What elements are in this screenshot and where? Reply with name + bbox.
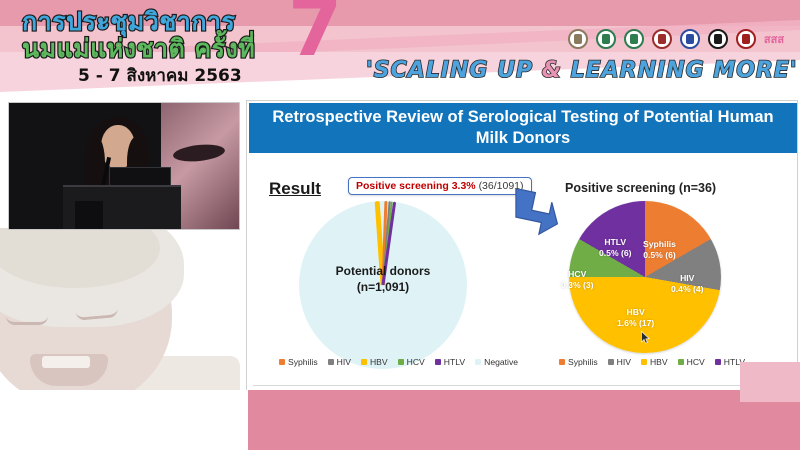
result-heading: Result: [269, 179, 321, 199]
logo-sss-thaihealth-icon: สสส: [762, 26, 786, 52]
pie-label-htlv: HTLV 0.5% (6): [599, 237, 631, 258]
legend-item-hcv: HCV: [398, 357, 425, 367]
speaker-presentation-video[interactable]: [8, 102, 240, 230]
legend-item-htlv: HTLV: [435, 357, 465, 367]
legend-item-hiv: HIV: [328, 357, 351, 367]
legend-item-syphilis: Syphilis: [279, 357, 318, 367]
conference-edition-number: 7: [288, 0, 342, 68]
positive-screening-callout: Positive screening 3.3% (36/1091): [348, 177, 532, 195]
conference-tagline: 'SCALING UP & LEARNING MORE': [366, 58, 798, 83]
logo-thai-royal-seal-icon: [566, 26, 590, 52]
positive-screening-percent: Positive screening 3.3%: [356, 180, 476, 192]
conference-date: 5 - 7 สิงหาคม 2563: [78, 62, 242, 89]
logo-royal-college-icon: [650, 26, 674, 52]
legend-item-hiv-2: HIV: [608, 357, 631, 367]
tagline-part-1: 'SCALING UP: [366, 58, 542, 83]
mouse-cursor-icon: [641, 331, 650, 344]
logo-ministry-public-health-icon: [594, 26, 618, 52]
legend-item-hcv-2: HCV: [678, 357, 705, 367]
potential-donors-title: Potential donors: [299, 263, 467, 279]
logo-breastfeeding-center-icon: [706, 26, 730, 52]
podium-front-panel: [75, 201, 103, 229]
positive-screening-chart: Syphilis 0.5% (6) HIV 0.4% (4) HBV 1.6% …: [569, 201, 729, 359]
legend-item-hbv: HBV: [361, 357, 388, 367]
positive-screening-chart-title: Positive screening (n=36): [565, 181, 716, 195]
logo-department-health-icon: [622, 26, 646, 52]
pie-label-hbv: HBV 1.6% (17): [617, 307, 654, 328]
potential-donors-chart: Potential donors (n=1,091): [299, 201, 479, 371]
pie-label-hiv: HIV 0.4% (4): [671, 273, 703, 294]
potential-donors-n: (n=1,091): [299, 279, 467, 295]
legend-item-syphilis-2: Syphilis: [559, 357, 598, 367]
potential-donors-center-label: Potential donors (n=1,091): [299, 263, 467, 295]
blue-arrow-icon: [509, 189, 561, 239]
slide-screenshot: การประชุมวิชาการ นมแม่แห่งชาติ ครั้งที่ …: [0, 0, 800, 450]
legend-item-negative: Negative: [475, 357, 518, 367]
pie-label-hcv: HCV 0.3% (3): [561, 269, 593, 290]
logo-thai-pediatric-society-icon: [678, 26, 702, 52]
presentation-slide: Retrospective Review of Serological Test…: [246, 100, 798, 405]
potential-donors-legend: Syphilis HIV HBV HCV HTLV Negative: [279, 357, 518, 367]
footer-band-pink-light: [740, 362, 800, 402]
logo-nursing-council-icon: [734, 26, 758, 52]
tagline-ampersand: &: [542, 58, 562, 83]
footer-white-left: [0, 390, 248, 450]
sponsor-logo-row: สสส: [566, 26, 786, 52]
tagline-part-2: LEARNING MORE': [562, 58, 798, 83]
potential-donors-pie: Potential donors (n=1,091): [299, 201, 467, 369]
slide-title: Retrospective Review of Serological Test…: [249, 103, 797, 153]
legend-item-hbv-2: HBV: [641, 357, 668, 367]
background-baby-photo: [0, 228, 250, 398]
positive-screening-legend: Syphilis HIV HBV HCV HTLV: [559, 357, 745, 367]
pie-label-syphilis: Syphilis 0.5% (6): [643, 239, 676, 260]
